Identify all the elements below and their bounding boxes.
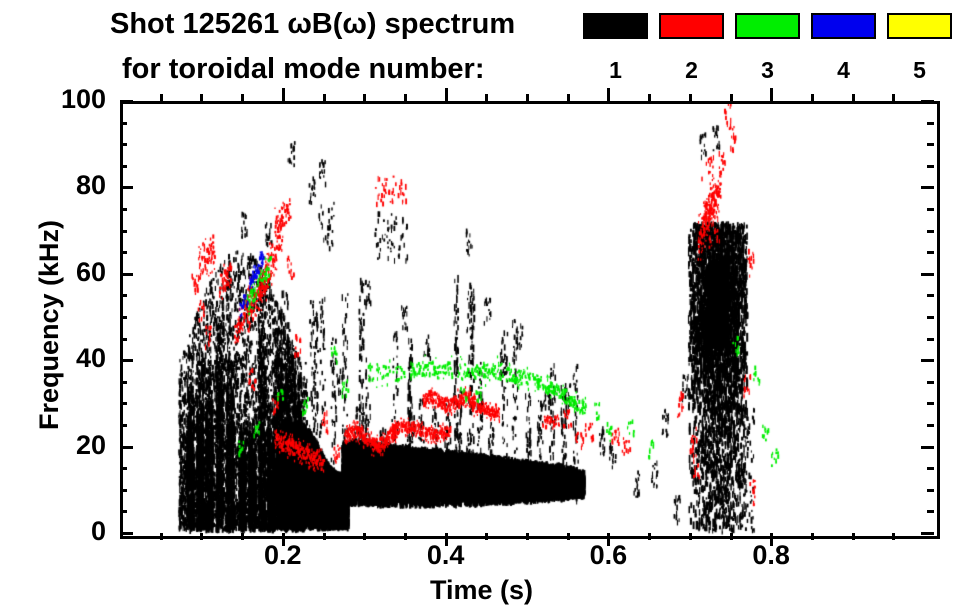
y-tick-minor-right	[927, 424, 934, 427]
x-tick-label-0.8: 0.8	[726, 540, 816, 571]
x-tick-minor-top	[811, 94, 814, 101]
x-tick-minor-top	[485, 94, 488, 101]
y-tick-minor-right	[927, 208, 934, 211]
y-tick-major-right	[921, 532, 934, 535]
y-tick-major	[120, 532, 133, 535]
y-tick-minor-right	[927, 165, 934, 168]
legend-swatch-4	[811, 13, 876, 39]
y-tick-minor	[120, 122, 127, 125]
y-tick-minor-right	[927, 316, 934, 319]
x-tick-minor	[892, 533, 895, 540]
y-tick-major	[120, 359, 133, 362]
legend-label-3: 3	[735, 57, 800, 84]
plot-area	[120, 101, 940, 539]
y-tick-minor-right	[927, 338, 934, 341]
y-tick-minor-right	[927, 251, 934, 254]
y-tick-minor-right	[927, 381, 934, 384]
legend-label-5: 5	[887, 57, 952, 84]
y-tick-minor-right	[927, 294, 934, 297]
x-tick-minor-top	[892, 94, 895, 101]
x-tick-minor	[526, 533, 529, 540]
x-tick-minor	[323, 533, 326, 540]
x-tick-major-top	[282, 88, 285, 101]
y-tick-minor-right	[927, 510, 934, 513]
y-tick-major-right	[921, 446, 934, 449]
legend-swatch-5	[887, 13, 952, 39]
y-tick-minor-right	[927, 230, 934, 233]
y-tick-minor	[120, 402, 127, 405]
legend-swatch-1	[583, 13, 648, 39]
y-tick-major-right	[921, 186, 934, 189]
x-tick-minor	[852, 533, 855, 540]
y-tick-minor-right	[927, 489, 934, 492]
x-axis-title: Time (s)	[0, 575, 963, 606]
x-tick-minor-top	[363, 94, 366, 101]
y-tick-minor-right	[927, 122, 934, 125]
spectrogram-figure: Shot 125261 ωB(ω) spectrum for toroidal …	[0, 0, 963, 615]
x-tick-minor	[363, 533, 366, 540]
x-tick-minor-top	[648, 94, 651, 101]
x-tick-minor	[648, 533, 651, 540]
y-tick-minor	[120, 424, 127, 427]
y-axis-title: Frequency (kHz)	[34, 220, 65, 430]
legend-swatch-2	[659, 13, 724, 39]
y-tick-minor	[120, 467, 127, 470]
y-tick-major-right	[921, 273, 934, 276]
y-tick-minor	[120, 316, 127, 319]
x-tick-minor-top	[323, 94, 326, 101]
x-tick-minor	[811, 533, 814, 540]
x-tick-minor-top	[200, 94, 203, 101]
x-tick-minor	[404, 533, 407, 540]
y-tick-minor-right	[927, 402, 934, 405]
x-tick-label-0.4: 0.4	[401, 540, 491, 571]
legend-label-1: 1	[583, 57, 648, 84]
y-tick-major-right	[921, 100, 934, 103]
x-tick-minor	[241, 533, 244, 540]
legend-label-2: 2	[659, 57, 724, 84]
y-tick-minor	[120, 381, 127, 384]
figure-title-line-1: Shot 125261 ωB(ω) spectrum	[110, 8, 515, 41]
x-tick-minor-top	[567, 94, 570, 101]
legend-swatch-3	[735, 13, 800, 39]
y-tick-label-0: 0	[14, 516, 106, 547]
y-tick-major	[120, 446, 133, 449]
x-tick-minor-top	[526, 94, 529, 101]
y-tick-minor	[120, 510, 127, 513]
y-tick-label-80: 80	[14, 170, 106, 201]
y-tick-minor	[120, 489, 127, 492]
x-tick-minor	[689, 533, 692, 540]
x-tick-minor-top	[852, 94, 855, 101]
x-tick-minor	[567, 533, 570, 540]
y-tick-label-100: 100	[14, 84, 106, 115]
x-tick-minor-top	[160, 94, 163, 101]
x-tick-minor-top	[730, 94, 733, 101]
x-tick-minor	[730, 533, 733, 540]
y-tick-major	[120, 100, 133, 103]
x-tick-major-top	[445, 88, 448, 101]
y-tick-minor	[120, 230, 127, 233]
y-tick-minor	[120, 294, 127, 297]
y-tick-minor	[120, 338, 127, 341]
figure-title-line-2: for toroidal mode number:	[122, 53, 485, 86]
x-tick-minor-top	[404, 94, 407, 101]
y-tick-minor	[120, 165, 127, 168]
x-tick-label-0.2: 0.2	[238, 540, 328, 571]
spectrogram-canvas	[123, 104, 937, 536]
x-tick-major-top	[607, 88, 610, 101]
y-tick-major	[120, 186, 133, 189]
x-tick-label-0.6: 0.6	[563, 540, 653, 571]
y-tick-minor-right	[927, 143, 934, 146]
x-tick-major-top	[770, 88, 773, 101]
legend-label-4: 4	[811, 57, 876, 84]
y-tick-minor	[120, 208, 127, 211]
y-tick-major-right	[921, 359, 934, 362]
y-tick-minor-right	[927, 467, 934, 470]
y-tick-minor	[120, 251, 127, 254]
y-tick-label-20: 20	[14, 430, 106, 461]
x-tick-minor	[160, 533, 163, 540]
x-tick-minor	[200, 533, 203, 540]
y-tick-major	[120, 273, 133, 276]
x-tick-minor-top	[241, 94, 244, 101]
x-tick-minor	[485, 533, 488, 540]
x-tick-minor-top	[689, 94, 692, 101]
y-tick-minor	[120, 143, 127, 146]
